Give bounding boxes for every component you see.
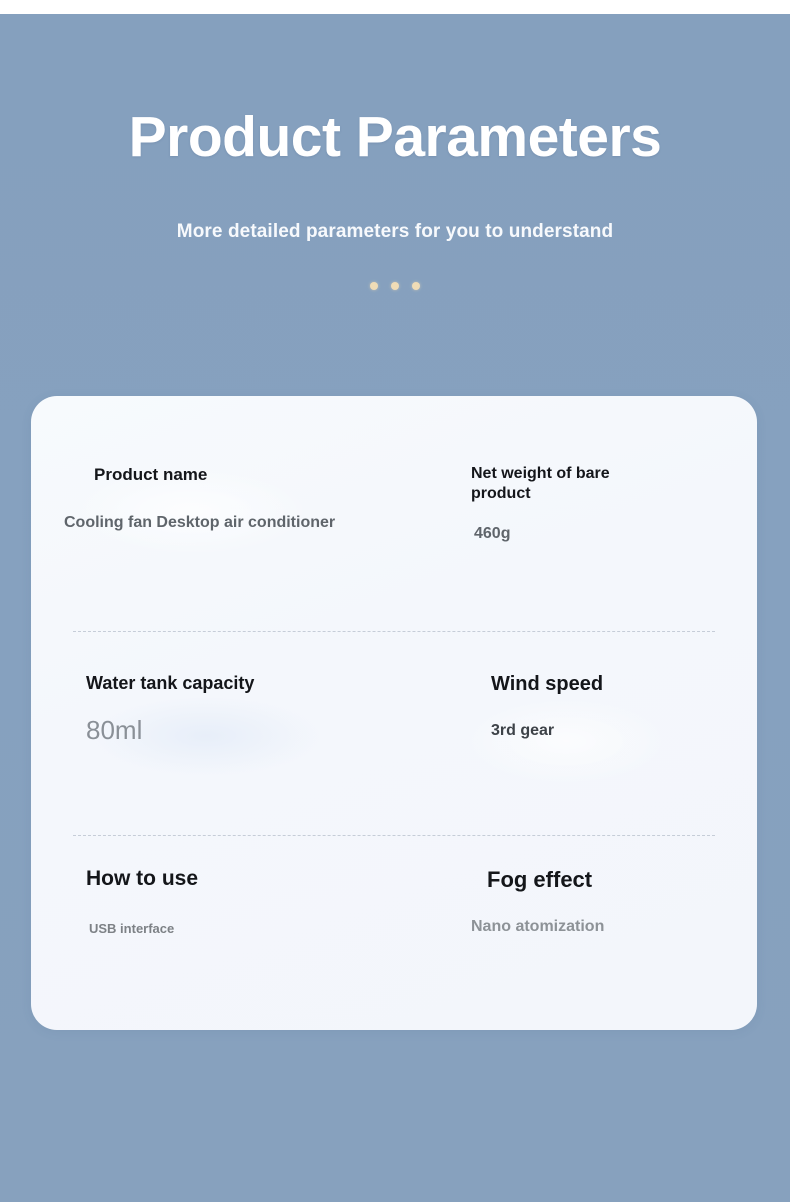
page-subtitle: More detailed parameters for you to unde…	[0, 168, 790, 243]
spec-label: Product name	[64, 464, 464, 486]
dot-icon	[412, 282, 420, 290]
spec-row: How to use USB interface Fog effect Nano…	[31, 866, 757, 1006]
dot-icon	[370, 282, 378, 290]
row-divider	[73, 631, 715, 632]
spec-value: Cooling fan Desktop air conditioner	[64, 486, 464, 532]
specifications-card: Product name Cooling fan Desktop air con…	[31, 396, 757, 1030]
spec-label: How to use	[64, 866, 464, 893]
spec-cell-wind-speed: Wind speed 3rd gear	[471, 672, 741, 740]
product-parameters-page: Product Parameters More detailed paramet…	[0, 0, 790, 1202]
spec-value: USB interface	[64, 893, 464, 936]
spec-label: Net weight of bare product	[471, 464, 641, 505]
spec-row: Product name Cooling fan Desktop air con…	[31, 464, 757, 604]
spec-label: Water tank capacity	[64, 672, 464, 695]
spec-grid: Product name Cooling fan Desktop air con…	[31, 396, 757, 1030]
spec-cell-water-tank-capacity: Water tank capacity 80ml	[64, 672, 464, 746]
spec-label: Wind speed	[471, 672, 741, 698]
spec-value: 80ml	[64, 695, 464, 746]
spec-value: 3rd gear	[471, 698, 741, 740]
spec-cell-how-to-use: How to use USB interface	[64, 866, 464, 936]
dot-icon	[391, 282, 399, 290]
page-title: Product Parameters	[0, 14, 790, 168]
row-divider	[73, 835, 715, 836]
top-white-strip	[0, 0, 790, 14]
spec-cell-product-name: Product name Cooling fan Desktop air con…	[64, 464, 464, 532]
spec-cell-net-weight: Net weight of bare product 460g	[471, 464, 741, 543]
spec-cell-fog-effect: Fog effect Nano atomization	[471, 866, 741, 936]
spec-value: 460g	[471, 505, 741, 543]
hero-section: Product Parameters More detailed paramet…	[0, 14, 790, 290]
spec-row: Water tank capacity 80ml Wind speed 3rd …	[31, 672, 757, 812]
spec-label: Fog effect	[471, 866, 741, 894]
spec-value: Nano atomization	[471, 894, 741, 936]
decorative-dots	[0, 243, 790, 290]
